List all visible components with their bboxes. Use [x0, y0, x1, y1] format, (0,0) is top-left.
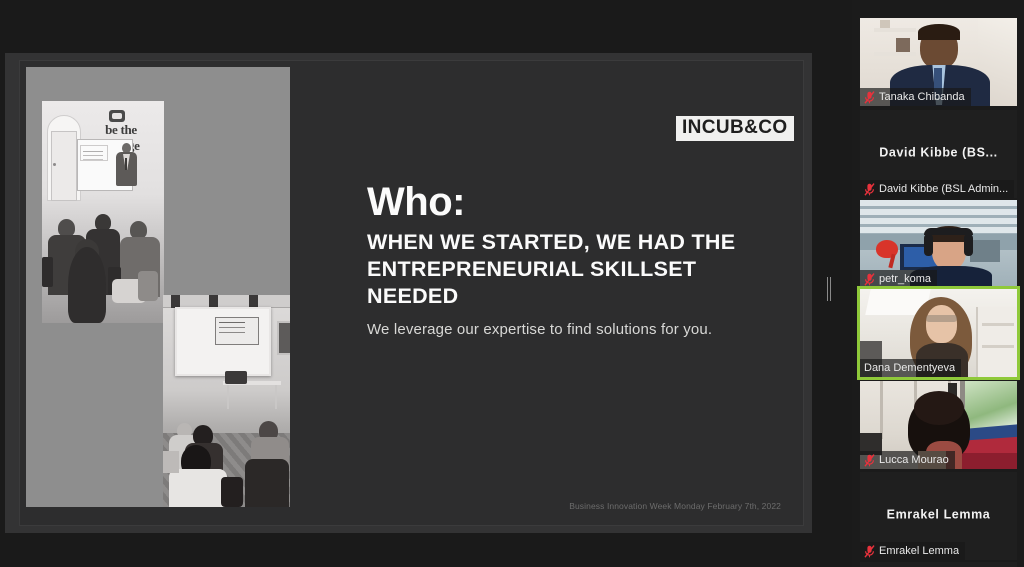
participant-video-strip[interactable]: Tanaka Chibanda David Kibbe (BS... David… [852, 0, 1024, 567]
participant-tile-lucca-mourao[interactable]: Lucca Mourao [860, 381, 1017, 469]
stage-resize-handle[interactable] [826, 277, 832, 301]
slide-subtext: We leverage our expertise to find soluti… [367, 321, 787, 338]
participant-tile-emrakel-lemma[interactable]: Emrakel Lemma Emrakel Lemma [860, 472, 1017, 560]
participant-tile-tanaka-chibanda[interactable]: Tanaka Chibanda [860, 18, 1017, 106]
mic-muted-icon [864, 273, 875, 286]
slide-text-column: INCUB&CO Who: WHEN WE STARTED, WE HAD TH… [316, 61, 803, 525]
slide-eyebrow: Who: [367, 180, 465, 225]
participant-namebar: petr_koma [860, 270, 937, 288]
participant-placeholder-name: Emrakel Lemma [860, 508, 1017, 522]
participant-tile-petr-koma[interactable]: petr_koma [860, 200, 1017, 288]
participant-tile-dana-dementyeva[interactable]: Dana Dementyeva [860, 289, 1017, 377]
mic-muted-icon [864, 91, 875, 104]
participant-name: Dana Dementyeva [864, 362, 955, 374]
participant-name: petr_koma [879, 273, 931, 285]
participant-name: Lucca Mourao [879, 454, 949, 466]
slide-headline: WHEN WE STARTED, WE HAD THE ENTREPRENEUR… [367, 229, 767, 310]
participant-namebar: Emrakel Lemma [860, 542, 965, 560]
mic-muted-icon [864, 545, 875, 558]
participant-name: David Kibbe (BSL Admin... [879, 183, 1008, 195]
photo-be-the-change: be the change [42, 101, 164, 323]
participant-namebar: Tanaka Chibanda [860, 88, 971, 106]
be-the-change-banner: be the change [86, 110, 156, 136]
participant-tile-partial[interactable] [860, 562, 1017, 567]
zoom-meeting-window: be the change [0, 0, 1024, 567]
presentation-slide: be the change [19, 60, 804, 526]
participant-namebar: Lucca Mourao [860, 451, 955, 469]
slide-footer: Business Innovation Week Monday February… [569, 501, 781, 511]
audience-silhouettes [42, 205, 164, 323]
participant-namebar: David Kibbe (BSL Admin... [860, 180, 1014, 198]
participant-tile-david-kibbe[interactable]: David Kibbe (BS... David Kibbe (BSL Admi… [860, 110, 1017, 198]
participant-name: Tanaka Chibanda [879, 91, 965, 103]
participant-placeholder-name: David Kibbe (BS... [860, 146, 1017, 160]
mic-muted-icon [864, 454, 875, 467]
audience-silhouettes [163, 421, 290, 507]
slide-frame: be the change [5, 53, 812, 533]
mic-muted-icon [864, 183, 875, 196]
slide-photo-panel: be the change [26, 67, 290, 507]
photo-lecture-room [163, 295, 290, 507]
shared-screen-stage[interactable]: be the change [0, 0, 852, 567]
participant-name: Emrakel Lemma [879, 545, 959, 557]
participant-namebar: Dana Dementyeva [860, 359, 961, 377]
incubco-logo: INCUB&CO [676, 116, 794, 141]
